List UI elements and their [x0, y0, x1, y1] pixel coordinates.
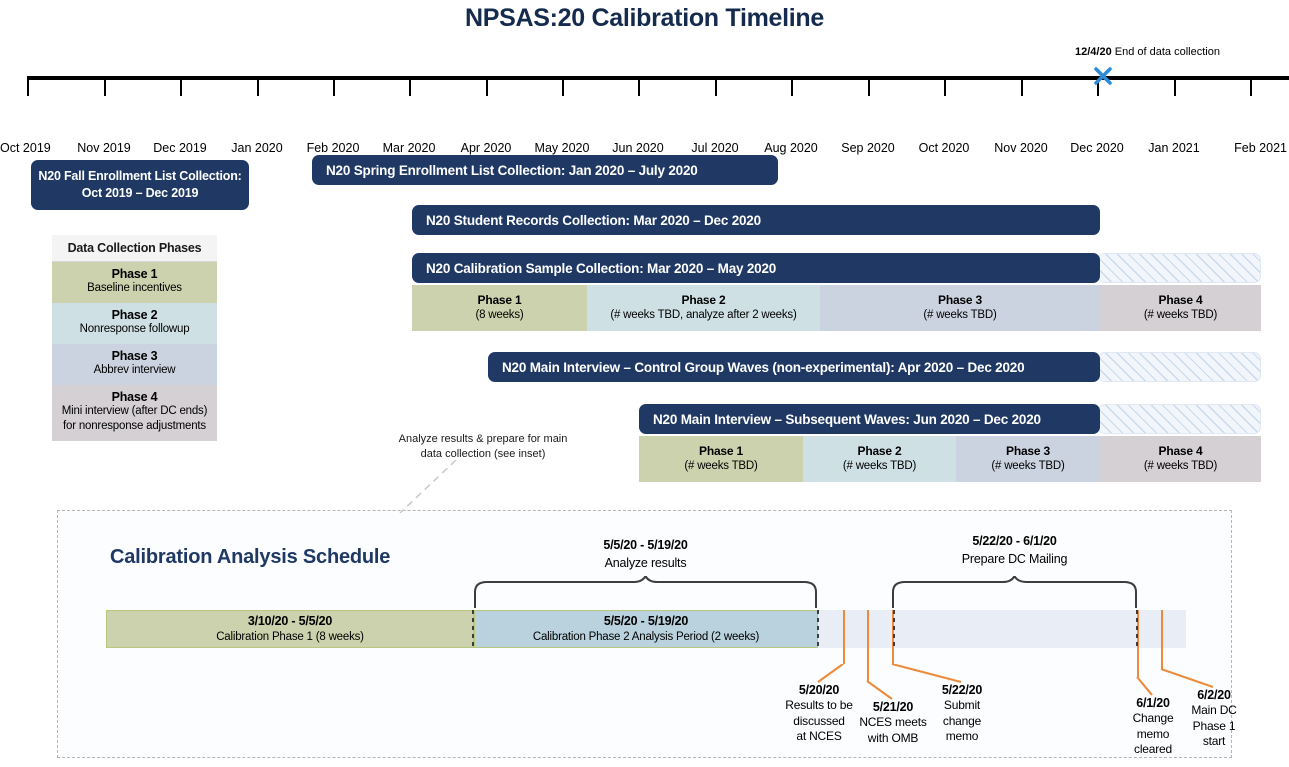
axis-tick-label: Oct 2020: [919, 141, 970, 155]
phase-legend-subtitle: Mini interview (after DC ends) for nonre…: [58, 404, 211, 434]
phase-cell: Phase 3(# weeks TBD): [956, 436, 1100, 482]
phase-cell-subtitle: (# weeks TBD): [923, 308, 996, 324]
phase-cell-subtitle: (# weeks TBD): [991, 459, 1064, 475]
phase-legend-title: Phase 1: [58, 267, 211, 281]
phase-cell: Phase 4(# weeks TBD): [1100, 285, 1261, 331]
timeline-axis: Oct 2019Nov 2019Dec 2019Jan 2020Feb 2020…: [0, 48, 1289, 118]
axis-tick-label: Oct 2019: [0, 141, 51, 155]
phase-cell-subtitle: (# weeks TBD, analyze after 2 weeks): [610, 308, 796, 324]
page-title: NPSAS:20 Calibration Timeline: [0, 4, 1289, 33]
phase-legend-title: Phase 2: [58, 308, 211, 322]
fall-enrollment-box: N20 Fall Enrollment List Collection: Oct…: [31, 160, 249, 210]
axis-tick-label: Jul 2020: [691, 141, 738, 155]
inset-segment-title: 3/10/20 - 5/5/20: [248, 613, 332, 629]
phase-cell-subtitle: (# weeks TBD): [1144, 308, 1217, 324]
axis-tick: [1174, 80, 1176, 96]
hatched-extension: [1098, 352, 1261, 382]
inset-note-line1: Analyze results & prepare for main: [393, 432, 573, 447]
axis-tick: [638, 80, 640, 96]
marker-5-20-20-label: 5/20/20Results to bediscussedat NCES: [784, 682, 854, 745]
phase-cell-title: Phase 2: [858, 443, 902, 459]
marker-text: cleared: [1118, 742, 1188, 758]
marker-5-21-20-line: [867, 610, 869, 681]
axis-tick-label: Sep 2020: [841, 141, 895, 155]
spring-enrollment-bar: N20 Spring Enrollment List Collection: J…: [312, 155, 778, 185]
phase-cell-subtitle: (8 weeks): [475, 308, 523, 324]
axis-tick-label: Jun 2020: [612, 141, 663, 155]
calibration-phase-1-segment: 3/10/20 - 5/5/20Calibration Phase 1 (8 w…: [106, 610, 474, 648]
inset-title: Calibration Analysis Schedule: [110, 546, 390, 569]
marker-5-21-20-label: 5/21/20NCES meetswith OMB: [858, 699, 928, 746]
axis-tick-label: Mar 2020: [383, 141, 436, 155]
inset-divider: [472, 610, 474, 648]
marker-5-20-20-line: [843, 610, 845, 664]
phase-cell-subtitle: (# weeks TBD): [684, 459, 757, 475]
analyze-results-brace-label: 5/5/20 - 5/19/20Analyze results: [473, 536, 818, 572]
phase-legend-rows: Phase 1Baseline incentivesPhase 2Nonresp…: [52, 262, 217, 441]
marker-text: with OMB: [858, 731, 928, 747]
marker-text: Phase 1: [1179, 719, 1249, 735]
phase-legend-row: Phase 3Abbrev interview: [52, 344, 217, 385]
subsequent-waves-phases: Phase 1(# weeks TBD)Phase 2(# weeks TBD)…: [639, 436, 1261, 482]
axis-tick-label: May 2020: [535, 141, 590, 155]
axis-tick: [715, 80, 717, 96]
hatched-extension: [1098, 404, 1261, 434]
phase-legend-row: Phase 4Mini interview (after DC ends) fo…: [52, 385, 217, 441]
phase-legend-title: Phase 3: [58, 349, 211, 363]
marker-6-2-20-leader: [1157, 669, 1217, 691]
end-of-collection-date: 12/4/20: [1075, 46, 1112, 58]
data-collection-phases-legend: Data Collection Phases Phase 1Baseline i…: [52, 235, 217, 441]
phase-cell: Phase 4(# weeks TBD): [1100, 436, 1261, 482]
calibration-sample-bar: N20 Calibration Sample Collection: Mar 2…: [412, 253, 1100, 283]
inset-segment-subtitle: Calibration Phase 2 Analysis Period (2 w…: [533, 630, 759, 645]
phase-legend-subtitle: Baseline incentives: [58, 281, 211, 296]
axis-tick: [791, 80, 793, 96]
axis-tick-label: Nov 2019: [77, 141, 131, 155]
axis-tick-label: Dec 2020: [1070, 141, 1124, 155]
phase-cell-title: Phase 2: [682, 292, 726, 308]
phase-cell: Phase 2(# weeks TBD): [803, 436, 956, 482]
marker-6-1-20-label: 6/1/20Changememocleared: [1118, 695, 1188, 758]
fall-enrollment-line2: Oct 2019 – Dec 2019: [38, 185, 241, 202]
marker-text: memo: [1118, 727, 1188, 743]
axis-tick-label: Jan 2020: [231, 141, 282, 155]
marker-5-22-20-label: 5/22/20Submitchangememo: [927, 682, 997, 745]
axis-tick: [944, 80, 946, 96]
phase-cell-title: Phase 4: [1159, 443, 1203, 459]
end-of-collection-label: 12/4/20 End of data collection: [1075, 46, 1220, 58]
end-of-collection-text: End of data collection: [1115, 46, 1220, 58]
axis-tick: [104, 80, 106, 96]
fall-enrollment-line1: N20 Fall Enrollment List Collection:: [38, 168, 241, 185]
phase-legend-subtitle: Abbrev interview: [58, 363, 211, 378]
axis-tick-label: Feb 2020: [307, 141, 360, 155]
phase-cell-title: Phase 3: [1006, 443, 1050, 459]
axis-tick: [180, 80, 182, 96]
brace-subtitle: Prepare DC Mailing: [891, 550, 1138, 568]
marker-text: Change: [1118, 711, 1188, 727]
inset-segment-subtitle: Calibration Phase 1 (8 weeks): [216, 630, 364, 645]
axis-tick: [27, 80, 29, 96]
axis-tick: [1250, 80, 1252, 96]
phase-cell-subtitle: (# weeks TBD): [1144, 459, 1217, 475]
marker-text: at NCES: [784, 729, 854, 745]
prepare-dc-mailing-brace: [891, 576, 1138, 608]
prepare-dc-mailing-brace-label: 5/22/20 - 6/1/20Prepare DC Mailing: [891, 532, 1138, 568]
marker-text: start: [1179, 734, 1249, 750]
phase-cell: Phase 1(8 weeks): [412, 285, 587, 331]
calibration-sample-phases: Phase 1(8 weeks)Phase 2(# weeks TBD, ana…: [412, 285, 1261, 331]
control-group-waves-bar: N20 Main Interview – Control Group Waves…: [488, 352, 1100, 382]
marker-text: discussed: [784, 714, 854, 730]
marker-text: Main DC: [1179, 703, 1249, 719]
marker-5-20-20-leader: [814, 664, 847, 686]
axis-tick: [409, 80, 411, 96]
phase-legend-title: Phase 4: [58, 390, 211, 404]
phase-cell-title: Phase 1: [699, 443, 743, 459]
marker-text: memo: [927, 729, 997, 745]
inset-callout-connector: [398, 460, 458, 515]
axis-tick-label: Feb 2021: [1234, 141, 1287, 155]
axis-tick: [486, 80, 488, 96]
marker-text: NCES meets: [858, 715, 928, 731]
axis-tick-label: Jan 2021: [1148, 141, 1199, 155]
brace-subtitle: Analyze results: [473, 554, 818, 572]
phase-cell-title: Phase 1: [478, 292, 522, 308]
student-records-bar: N20 Student Records Collection: Mar 2020…: [412, 205, 1100, 235]
marker-text: Submit: [927, 698, 997, 714]
axis-tick-label: Dec 2019: [153, 141, 207, 155]
subsequent-waves-bar: N20 Main Interview – Subsequent Waves: J…: [639, 404, 1100, 434]
inset-divider: [817, 610, 819, 648]
axis-tick: [257, 80, 259, 96]
marker-5-22-20-leader: [888, 664, 965, 686]
calibration-phase-2-segment: 5/5/20 - 5/19/20Calibration Phase 2 Anal…: [474, 610, 818, 648]
phase-cell-subtitle: (# weeks TBD): [843, 459, 916, 475]
phase-cell: Phase 1(# weeks TBD): [639, 436, 803, 482]
axis-tick-label: Aug 2020: [764, 141, 818, 155]
phase-cell-title: Phase 4: [1159, 292, 1203, 308]
inset-divider: [1136, 610, 1138, 648]
axis-tick-label: Apr 2020: [461, 141, 512, 155]
marker-6-2-20-line: [1161, 610, 1163, 669]
phase-cell: Phase 2(# weeks TBD, analyze after 2 wee…: [587, 285, 820, 331]
axis-tick: [333, 80, 335, 96]
phase-legend-subtitle: Nonresponse followup: [58, 322, 211, 337]
axis-tick: [1021, 80, 1023, 96]
axis-tick: [868, 80, 870, 96]
marker-text: Results to be: [784, 698, 854, 714]
phase-cell-title: Phase 3: [938, 292, 982, 308]
axis-tick-label: Nov 2020: [994, 141, 1048, 155]
brace-title: 5/5/20 - 5/19/20: [473, 536, 818, 554]
inset-divider: [893, 610, 895, 648]
phase-legend-row: Phase 1Baseline incentives: [52, 262, 217, 303]
marker-6-2-20-label: 6/2/20Main DCPhase 1start: [1179, 687, 1249, 750]
analyze-results-brace: [473, 576, 818, 608]
phase-legend-header: Data Collection Phases: [52, 235, 217, 262]
marker-text: change: [927, 714, 997, 730]
axis-tick: [562, 80, 564, 96]
hatched-extension: [1098, 253, 1261, 283]
inset-segment-title: 5/5/20 - 5/19/20: [604, 613, 688, 629]
inset-callout-note: Analyze results & prepare for main data …: [393, 432, 573, 462]
phase-cell: Phase 3(# weeks TBD): [820, 285, 1100, 331]
brace-title: 5/22/20 - 6/1/20: [891, 532, 1138, 550]
marker-6-1-20-leader: [1133, 677, 1156, 699]
x-mark-icon: [1093, 66, 1113, 86]
phase-legend-row: Phase 2Nonresponse followup: [52, 303, 217, 344]
